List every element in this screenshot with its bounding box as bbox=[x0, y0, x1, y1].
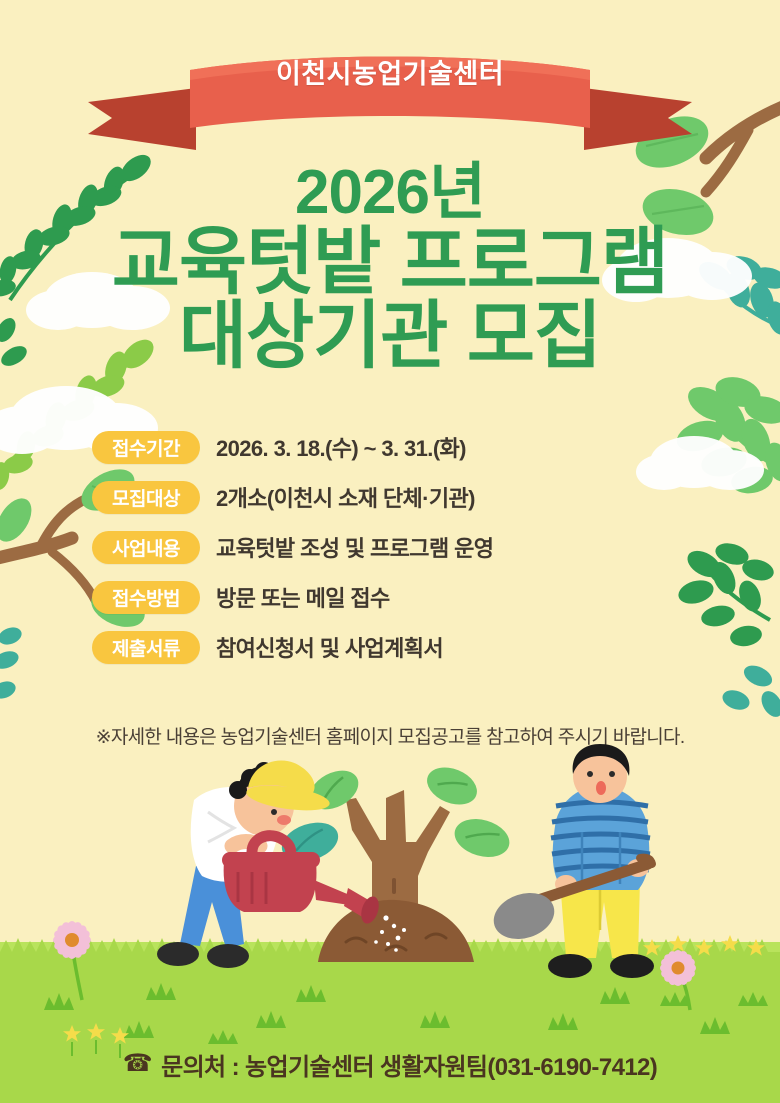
tree-illustration bbox=[277, 760, 514, 962]
info-label-2: 사업내용 bbox=[92, 531, 200, 564]
info-label-0: 접수기간 bbox=[92, 431, 200, 464]
woman-eye bbox=[271, 809, 277, 815]
phone-icon: ☎ bbox=[123, 1052, 152, 1076]
daisy-flower-left bbox=[51, 919, 92, 1000]
info-row-0: 접수기간 2026. 3. 18.(수) ~ 3. 31.(화) bbox=[92, 428, 732, 466]
water-droplets bbox=[374, 915, 406, 951]
watering-can-lines bbox=[238, 872, 266, 904]
woman-cheek bbox=[277, 815, 291, 825]
figure-man-shovel bbox=[488, 744, 654, 978]
info-label-4: 제출서류 bbox=[92, 631, 200, 664]
footer-contact-text: 문의처 : 농업기술센터 생활자원팀(031-6190-7412) bbox=[161, 1047, 657, 1082]
poster-canvas: 이천시농업기술센터 2026년 교육텃밭 프로그램 대상기관 모집 접수기간 2… bbox=[0, 0, 780, 1103]
info-label-3: 접수방법 bbox=[92, 581, 200, 614]
man-eye-left bbox=[587, 771, 593, 777]
man-head bbox=[573, 749, 627, 803]
info-row-1: 모집대상 2개소(이천시 소재 단체·기관) bbox=[92, 478, 732, 516]
shovel-blade bbox=[488, 885, 561, 946]
woman-shoe-right bbox=[207, 944, 249, 968]
man-hand-right bbox=[627, 859, 649, 877]
grass-fringe bbox=[0, 938, 780, 982]
woman-shoe-left bbox=[157, 942, 199, 966]
man-sweater-stripes bbox=[551, 802, 650, 870]
info-row-3: 접수방법 방문 또는 메일 접수 bbox=[92, 578, 732, 616]
woman-shirt-fold bbox=[208, 812, 234, 842]
man-hand-left bbox=[555, 875, 577, 893]
man-sweater bbox=[553, 786, 650, 890]
man-shoe-right bbox=[610, 954, 654, 978]
info-list: 접수기간 2026. 3. 18.(수) ~ 3. 31.(화) 모집대상 2개… bbox=[92, 428, 732, 678]
info-value-4: 참여신청서 및 사업계획서 bbox=[216, 631, 443, 663]
figure-woman-watering bbox=[157, 761, 406, 968]
info-row-4: 제출서류 참여신청서 및 사업계획서 bbox=[92, 628, 732, 666]
ribbon-fold-right bbox=[584, 88, 692, 150]
small-flowers-right bbox=[619, 935, 765, 956]
info-value-0: 2026. 3. 18.(수) ~ 3. 31.(화) bbox=[216, 431, 466, 463]
man-eye-right bbox=[609, 771, 615, 777]
tree-trunk-marks bbox=[388, 878, 402, 946]
info-value-3: 방문 또는 메일 접수 bbox=[216, 581, 390, 613]
soil-mound bbox=[318, 900, 474, 962]
footer-contact: ☎ 문의처 : 농업기술센터 생활자원팀(031-6190-7412) bbox=[123, 1047, 657, 1082]
note-text: ※자세한 내용은 농업기술센터 홈페이지 모집공고를 참고하여 주시기 바랍니다… bbox=[0, 722, 780, 749]
man-pants bbox=[560, 880, 640, 958]
info-row-2: 사업내용 교육텃밭 조성 및 프로그램 운영 bbox=[92, 528, 732, 566]
woman-hat-brim bbox=[245, 781, 331, 814]
title-line-recruit: 대상기관 모집 bbox=[0, 300, 780, 373]
man-mouth bbox=[596, 781, 606, 795]
tree-leaves bbox=[277, 760, 514, 868]
man-shoe-left bbox=[548, 954, 592, 978]
footer-bar: ☎ 문의처 : 농업기술센터 생활자원팀(031-6190-7412) bbox=[0, 1025, 780, 1103]
woman-pants bbox=[180, 866, 244, 948]
ribbon-fold-left bbox=[88, 88, 196, 150]
ribbon-label: 이천시농업기술센터 bbox=[0, 52, 780, 91]
title-line-program: 교육텃밭 프로그램 bbox=[0, 226, 780, 299]
soil-mound-marks bbox=[346, 934, 446, 950]
shovel-grip bbox=[640, 858, 652, 864]
woman-hair-braid bbox=[229, 762, 287, 799]
woman-head bbox=[234, 776, 294, 836]
tree-trunk bbox=[346, 790, 450, 960]
title-line-year: 2026년 bbox=[0, 163, 780, 224]
shovel-handle bbox=[520, 864, 648, 906]
info-label-1: 모집대상 bbox=[92, 481, 200, 514]
leaf-dots-left-bottom bbox=[0, 624, 24, 701]
shovel bbox=[488, 858, 652, 947]
woman-hat bbox=[248, 761, 315, 796]
watering-can bbox=[222, 836, 382, 926]
woman-arm bbox=[232, 842, 260, 847]
info-value-2: 교육텃밭 조성 및 프로그램 운영 bbox=[216, 531, 493, 563]
info-value-1: 2개소(이천시 소재 단체·기관) bbox=[216, 481, 475, 513]
page-title: 2026년 교육텃밭 프로그램 대상기관 모집 bbox=[0, 163, 780, 373]
daisy-flower-right bbox=[658, 948, 697, 1010]
woman-hair bbox=[237, 766, 292, 798]
woman-shirt bbox=[191, 787, 278, 882]
